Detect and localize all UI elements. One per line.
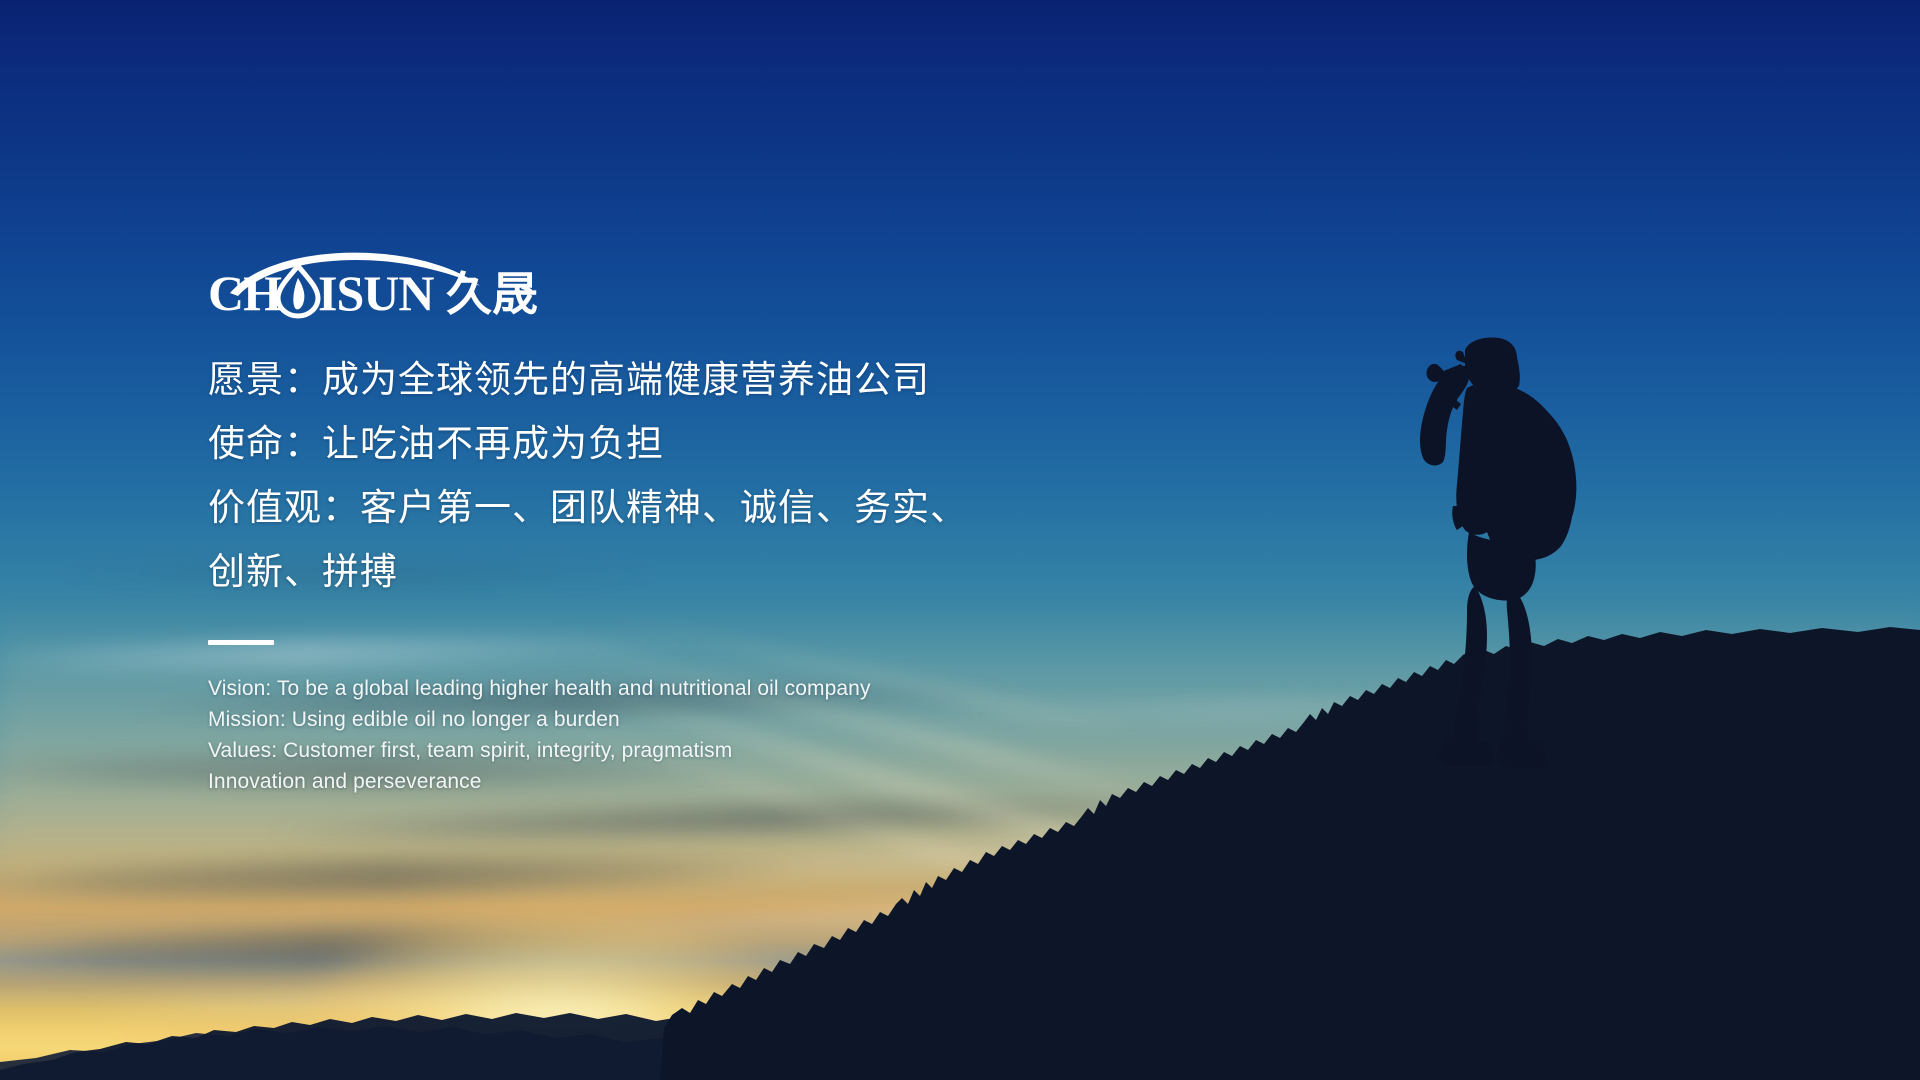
sun-horizon-band bbox=[120, 1032, 1020, 1076]
logo-artwork: CH ISUN 久晟 bbox=[208, 248, 548, 326]
content-block: CH ISUN 久晟 愿景：成为全球领先的高端健康营养油公司 使命：让吃油不再成… bbox=[208, 248, 1108, 797]
section-divider bbox=[208, 640, 274, 645]
cn-mission-line: 使命：让吃油不再成为负担 bbox=[208, 412, 1108, 476]
logo-latin-part2: ISUN bbox=[318, 265, 434, 321]
water-droplet-icon bbox=[278, 266, 318, 316]
cn-vision-line: 愿景：成为全球领先的高端健康营养油公司 bbox=[208, 348, 1108, 412]
en-values-line-cont: Innovation and perseverance bbox=[208, 766, 1108, 797]
cn-values-line-cont: 创新、拼搏 bbox=[208, 540, 1108, 604]
en-mission-line: Mission: Using edible oil no longer a bu… bbox=[208, 704, 1108, 735]
logo-latin-part1: CH bbox=[208, 265, 282, 321]
en-values-line: Values: Customer first, team spirit, int… bbox=[208, 735, 1108, 766]
chinese-statement-block: 愿景：成为全球领先的高端健康营养油公司 使命：让吃油不再成为负担 价值观：客户第… bbox=[208, 348, 1108, 604]
english-statement-block: Vision: To be a global leading higher he… bbox=[208, 673, 1108, 797]
cn-values-line: 价值观：客户第一、团队精神、诚信、务实、 bbox=[208, 476, 1108, 540]
brand-logo[interactable]: CH ISUN 久晟 bbox=[208, 248, 548, 326]
slide-canvas: CH ISUN 久晟 愿景：成为全球领先的高端健康营养油公司 使命：让吃油不再成… bbox=[0, 0, 1920, 1080]
en-vision-line: Vision: To be a global leading higher he… bbox=[208, 673, 1108, 704]
logo-cjk: 久晟 bbox=[446, 267, 538, 321]
